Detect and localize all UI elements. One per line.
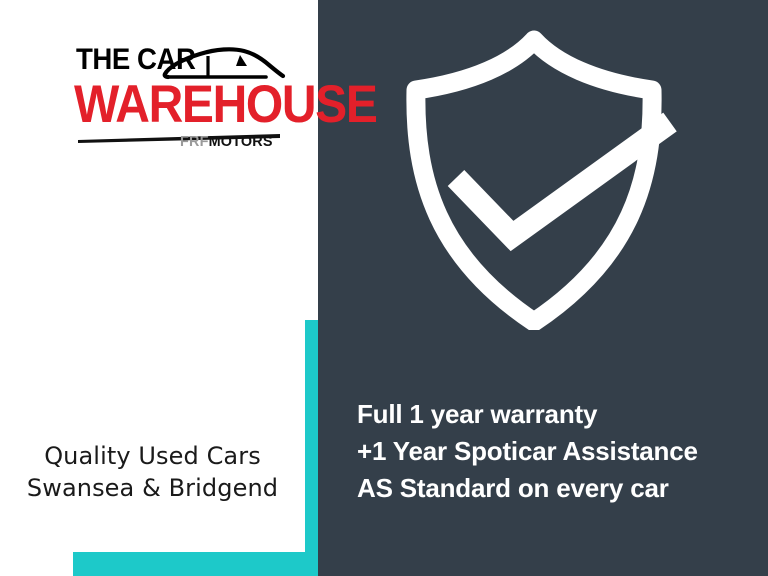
promo-headline-line-3: AS Standard on every car [357, 470, 757, 507]
promo-headline: Full 1 year warranty +1 Year Spoticar As… [357, 396, 757, 507]
shield-check-icon [400, 30, 680, 330]
advert-banner: THE CAR WAREHOUSE FRFMOTORS Quality Used… [0, 0, 768, 576]
teal-accent-vertical [305, 320, 318, 576]
logo-line-warehouse: WAREHOUSE [74, 79, 376, 131]
promo-headline-line-2: +1 Year Spoticar Assistance [357, 433, 757, 470]
tagline-line-1: Quality Used Cars [0, 440, 305, 472]
teal-accent-horizontal [73, 552, 318, 576]
logo-submark-frf: FRF [180, 133, 209, 150]
tagline: Quality Used Cars Swansea & Bridgend [0, 440, 305, 505]
promo-headline-line-1: Full 1 year warranty [357, 396, 757, 433]
tagline-line-2: Swansea & Bridgend [0, 472, 305, 504]
brand-logo: THE CAR WAREHOUSE FRFMOTORS [74, 42, 286, 152]
logo-submark: FRFMOTORS [180, 134, 273, 149]
logo-submark-motors: MOTORS [209, 133, 273, 150]
